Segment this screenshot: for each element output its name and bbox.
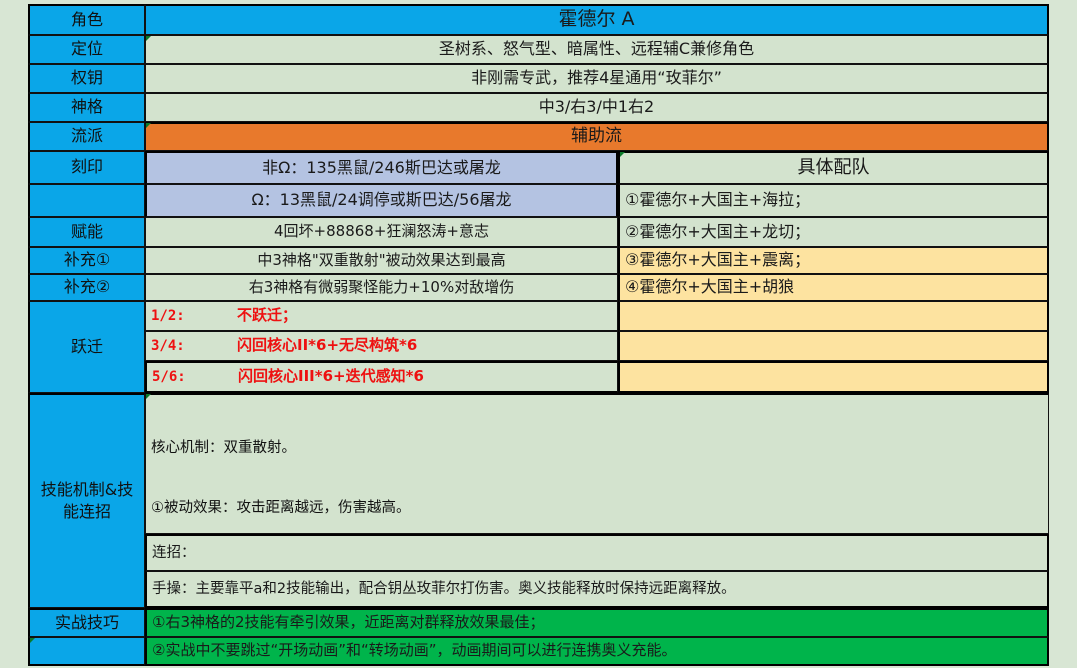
value-role: 霍德尔 A xyxy=(145,4,1049,35)
row-label-position: 定位 xyxy=(28,35,145,64)
team-filler-3 xyxy=(618,361,1049,393)
row-label-weapon: 权钥 xyxy=(28,64,145,93)
value-weapon: 非刚需专武，推荐4星通用“玫菲尔” xyxy=(145,64,1049,93)
jump-value-1: 不跃迁； xyxy=(237,307,297,324)
jump-key-1: 1/2: xyxy=(146,308,237,324)
jump-row-3: 5/6: 闪回核心III*6+迭代感知*6 xyxy=(145,361,618,393)
team-filler-1 xyxy=(618,301,1049,331)
team-item-1: ①霍德尔+大国主+海拉； xyxy=(618,184,1049,217)
team-item-3: ③霍德尔+大国主+震离； xyxy=(618,247,1049,274)
row-label-supplement-2: 补充② xyxy=(28,274,145,301)
team-filler-2 xyxy=(618,331,1049,361)
row-label-jump: 跃迁 xyxy=(28,301,145,393)
value-engrave-line1: 非Ω：135黑鼠/246斯巴达或屠龙 xyxy=(145,151,618,184)
row-label-build: 流派 xyxy=(28,122,145,151)
jump-value-2: 闪回核心II*6+无尽构筑*6 xyxy=(237,337,417,354)
combo-title: 连招： xyxy=(145,534,1049,571)
skill-line-core: 核心机制：双重散射。 xyxy=(151,438,1044,458)
value-engrave-line2: Ω：13黑鼠/24调停或斯巴达/56屠龙 xyxy=(145,184,618,217)
value-supplement-1: 中3神格"双重散射"被动效果达到最高 xyxy=(145,247,618,274)
jump-key-3: 5/6: xyxy=(147,369,238,385)
spreadsheet-canvas: 角色 定位 权钥 神格 流派 刻印 赋能 补充① 补充② 跃迁 技能机制&技能连… xyxy=(0,0,1077,668)
row-label-tips-cont xyxy=(28,637,145,666)
jump-row-1: 1/2: 不跃迁； xyxy=(145,301,618,331)
row-label-empower: 赋能 xyxy=(28,217,145,247)
team-item-2: ②霍德尔+大国主+龙切； xyxy=(618,217,1049,247)
row-label-engrave: 刻印 xyxy=(28,151,145,184)
teams-header: 具体配队 xyxy=(618,151,1049,184)
value-supplement-2: 右3神格有微弱聚怪能力+10%对敌增伤 xyxy=(145,274,618,301)
row-label-supplement-1: 补充① xyxy=(28,247,145,274)
value-empower: 4回坏+88868+狂澜怒涛+意志 xyxy=(145,217,618,247)
tip-item-1: ①右3神格的2技能有牵引效果，近距离对群释放效果最佳； xyxy=(145,608,1049,637)
value-position: 圣树系、怒气型、暗属性、远程辅C兼修角色 xyxy=(145,35,1049,64)
row-label-divinity: 神格 xyxy=(28,93,145,122)
row-label-skills: 技能机制&技能连招 xyxy=(28,393,145,608)
jump-key-2: 3/4: xyxy=(146,338,237,354)
row-label-engrave-cont xyxy=(28,184,145,217)
skill-mechanism-block: 核心机制：双重散射。 ①被动效果：攻击距离越远，伤害越高。 ②1技能向前攻击并击… xyxy=(145,393,1049,534)
row-label-role: 角色 xyxy=(28,4,145,35)
jump-value-3: 闪回核心III*6+迭代感知*6 xyxy=(238,368,424,385)
row-label-tips: 实战技巧 xyxy=(28,608,145,637)
combo-line: 手操：主要靠平a和2技能输出，配合钥丛玫菲尔打伤害。奥义技能释放时保持远距离释放… xyxy=(145,571,1049,608)
tip-item-2: ②实战中不要跳过“开场动画”和“转场动画”，动画期间可以进行连携奥义充能。 xyxy=(145,637,1049,666)
jump-row-2: 3/4: 闪回核心II*6+无尽构筑*6 xyxy=(145,331,618,361)
skill-line-1: ①被动效果：攻击距离越远，伤害越高。 xyxy=(151,498,1044,518)
team-item-4: ④霍德尔+大国主+胡狼 xyxy=(618,274,1049,301)
value-build: 辅助流 xyxy=(145,122,1049,151)
value-divinity: 中3/右3/中1右2 xyxy=(145,93,1049,122)
